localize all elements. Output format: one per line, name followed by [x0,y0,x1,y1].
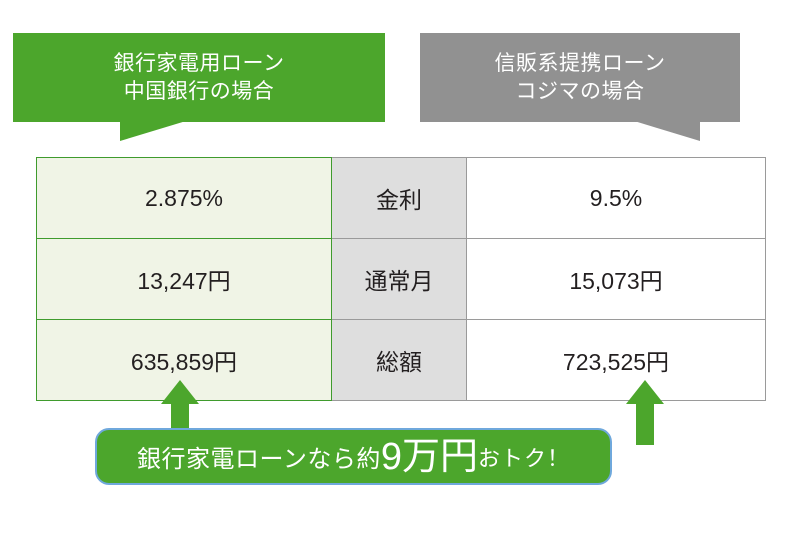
cell-shop-interest-rate: 9.5% [467,158,766,239]
cell-shop-total-amount: 723,525円 [467,320,766,401]
callout-shop-loan-line2: コジマの場合 [516,78,645,105]
cell-label-monthly-payment: 通常月 [332,239,467,320]
cell-label-total-amount: 総額 [332,320,467,401]
callout-shop-loan: 信販系提携ローン コジマの場合 [420,33,740,122]
callout-bank-loan-line2: 中国銀行の場合 [124,78,275,105]
cell-bank-interest-rate: 2.875% [37,158,332,239]
cell-shop-monthly-payment: 15,073円 [467,239,766,320]
callout-savings-prefix: 銀行家電ローンなら約 [137,439,381,474]
callout-savings-amount: 9万円 [381,438,478,476]
callout-shop-loan-line1: 信販系提携ローン [495,50,666,77]
up-arrow-right-icon [626,380,664,404]
infographic-canvas: 銀行家電用ローン 中国銀行の場合 信販系提携ローン コジマの場合 2.875% … [0,0,800,533]
callout-bank-loan: 銀行家電用ローン 中国銀行の場合 [13,33,385,122]
cell-bank-monthly-payment: 13,247円 [37,239,332,320]
callout-bank-loan-line1: 銀行家電用ローン [114,50,285,77]
cell-label-interest-rate: 金利 [332,158,467,239]
up-arrow-right-stem-icon [636,403,654,445]
callout-savings: 銀行家電ローンなら約9万円おトク！ [95,428,612,485]
callout-savings-suffix: おトク！ [478,441,570,473]
callout-bank-loan-tail-icon [120,121,186,141]
loan-comparison-table: 2.875% 金利 9.5% 13,247円 通常月 15,073円 635,8… [36,157,766,401]
up-arrow-left-icon [161,380,199,404]
table-row: 2.875% 金利 9.5% [37,158,766,239]
table-row: 13,247円 通常月 15,073円 [37,239,766,320]
callout-shop-loan-tail-icon [634,121,700,141]
